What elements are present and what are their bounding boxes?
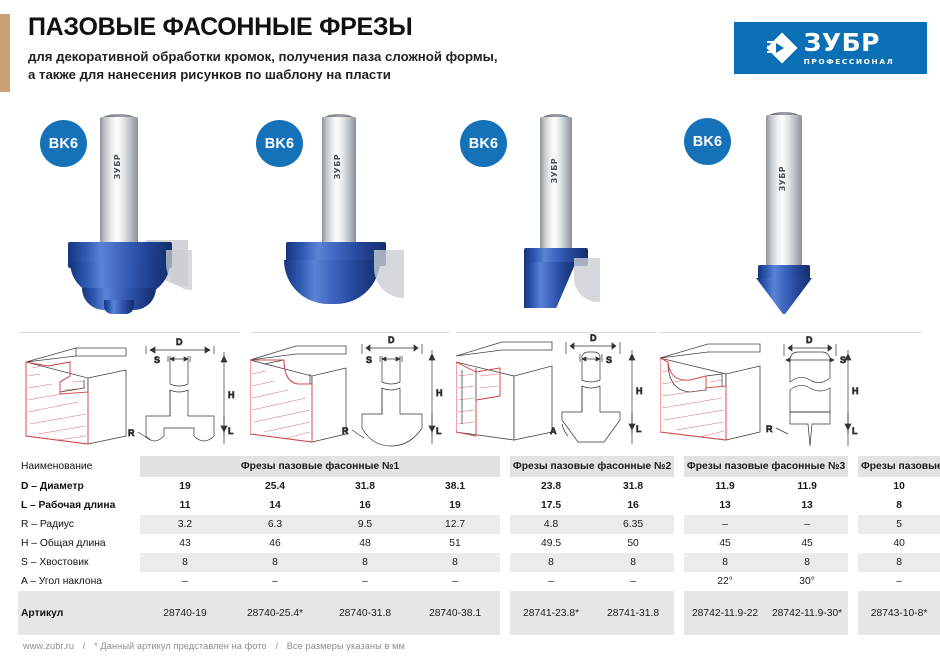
page-header: ПАЗОВЫЕ ФАСОННЫЕ ФРЕЗЫ для декоративной … (28, 14, 588, 84)
cell-a-2-1: – (510, 572, 592, 591)
cell-r-4-1: 5 (858, 515, 940, 534)
shank-brand-4: ЗУБР (778, 166, 787, 191)
group-header-4: Фрезы пазовые фасонные №4 (858, 456, 940, 477)
diagram-row: D S H L R (0, 332, 940, 454)
svg-text:L: L (852, 426, 858, 436)
cell-s-2-2: 8 (592, 553, 674, 572)
cell-art-1-1: 28740-19 (140, 591, 230, 635)
table-row-working-length: L – Рабочая длина 11 14 16 19 17.5 16 13… (18, 496, 940, 515)
cell-s-3-1: 8 (684, 553, 766, 572)
technical-diagram-2: D S H L R (250, 332, 450, 454)
table-row-radius: R – Радиус 3.2 6.3 9.5 12.7 4.8 6.35 – –… (18, 515, 940, 534)
svg-text:R: R (766, 424, 773, 434)
cell-l-3-1: 13 (684, 496, 766, 515)
svg-text:H: H (436, 388, 443, 398)
cell-r-1-3: 9.5 (320, 515, 410, 534)
footer-website[interactable]: www.zubr.ru (23, 641, 74, 651)
cell-art-2-1: 28741-23.8* (510, 591, 592, 635)
footer-note-article: * Данный артикул представлен на фото (94, 641, 267, 651)
cell-h-1-1: 43 (140, 534, 230, 553)
shank-brand-2: ЗУБР (333, 154, 342, 179)
cell-l-2-1: 17.5 (510, 496, 592, 515)
svg-text:H: H (852, 386, 859, 396)
table-name-header: Наименование (18, 456, 140, 477)
cell-art-1-3: 28740-31.8 (320, 591, 410, 635)
svg-text:R: R (128, 428, 135, 438)
table-row-diameter: D – Диаметр 19 25.4 31.8 38.1 23.8 31.8 … (18, 477, 940, 496)
cell-s-4-1: 8 (858, 553, 940, 572)
cell-r-3-1: – (684, 515, 766, 534)
product-photo-row: BK6 ЗУБР BK6 ЗУБР BK6 ЗУБР BK6 ЗУБР (0, 100, 940, 332)
cell-h-2-1: 49.5 (510, 534, 592, 553)
page-title: ПАЗОВЫЕ ФАСОННЫЕ ФРЕЗЫ (28, 14, 588, 41)
cell-h-3-2: 45 (766, 534, 848, 553)
cell-r-1-2: 6.3 (230, 515, 320, 534)
group-header-2: Фрезы пазовые фасонные №2 (510, 456, 674, 477)
shank-brand-3: ЗУБР (550, 158, 559, 183)
table-row-article: Артикул 28740-19 28740-25.4* 28740-31.8 … (18, 591, 940, 635)
cell-a-1-3: – (320, 572, 410, 591)
cell-d-1-2: 25.4 (230, 477, 320, 496)
cell-l-1-2: 14 (230, 496, 320, 515)
svg-text:H: H (228, 390, 235, 400)
group-header-3: Фрезы пазовые фасонные №3 (684, 456, 848, 477)
cell-l-1-1: 11 (140, 496, 230, 515)
cell-a-1-4: – (410, 572, 500, 591)
subtitle-line-2: а также для нанесения рисунков по шаблон… (28, 66, 588, 84)
row-label-working-length: L – Рабочая длина (18, 496, 140, 515)
badge-bk6-2: BK6 (256, 120, 303, 167)
cell-art-3-1: 28742-11.9-22 (684, 591, 766, 635)
cell-l-1-3: 16 (320, 496, 410, 515)
table-group-header-row: Наименование Фрезы пазовые фасонные №1 Ф… (18, 456, 940, 477)
page-footer: www.zubr.ru / * Данный артикул представл… (20, 641, 408, 651)
cell-s-1-2: 8 (230, 553, 320, 572)
spec-table-wrapper: Наименование Фрезы пазовые фасонные №1 Ф… (18, 456, 922, 635)
brand-logo: ЗУБР ПРОФЕССИОНАЛ (734, 22, 927, 74)
cell-d-1-4: 38.1 (410, 477, 500, 496)
cell-a-3-1: 22° (684, 572, 766, 591)
row-label-total-length: H – Общая длина (18, 534, 140, 553)
svg-text:A: A (550, 426, 557, 436)
cell-l-1-4: 19 (410, 496, 500, 515)
svg-text:D: D (806, 335, 813, 345)
accent-bar (0, 14, 10, 92)
badge-bk6-3: BK6 (460, 120, 507, 167)
cell-d-2-1: 23.8 (510, 477, 592, 496)
spec-table: Наименование Фрезы пазовые фасонные №1 Ф… (18, 456, 940, 635)
cell-l-3-2: 13 (766, 496, 848, 515)
svg-text:L: L (436, 426, 442, 436)
cell-a-2-2: – (592, 572, 674, 591)
cell-r-1-4: 12.7 (410, 515, 500, 534)
zubr-diamond-icon (767, 33, 797, 63)
cell-s-1-3: 8 (320, 553, 410, 572)
cell-d-1-1: 19 (140, 477, 230, 496)
cell-art-3-2: 28742-11.9-30* (766, 591, 848, 635)
cell-d-3-2: 11.9 (766, 477, 848, 496)
cell-a-4-1: – (858, 572, 940, 591)
product-photo-2: BK6 ЗУБР (250, 100, 450, 332)
table-row-total-length: H – Общая длина 43 46 48 51 49.5 50 45 4… (18, 534, 940, 553)
cell-art-1-2: 28740-25.4* (230, 591, 320, 635)
technical-diagram-1: D S H L R (18, 332, 240, 454)
group-header-1: Фрезы пазовые фасонные №1 (140, 456, 500, 477)
cell-s-3-2: 8 (766, 553, 848, 572)
cell-d-3-1: 11.9 (684, 477, 766, 496)
product-photo-3: BK6 ЗУБР (456, 100, 656, 332)
row-label-diameter: D – Диаметр (18, 477, 140, 496)
page-subtitle: для декоративной обработки кромок, получ… (28, 48, 588, 84)
row-label-article: Артикул (18, 591, 140, 635)
cell-d-1-3: 31.8 (320, 477, 410, 496)
cell-h-1-4: 51 (410, 534, 500, 553)
row-label-radius: R – Радиус (18, 515, 140, 534)
svg-text:S: S (154, 355, 160, 365)
cell-h-1-3: 48 (320, 534, 410, 553)
cell-h-2-2: 50 (592, 534, 674, 553)
cell-d-2-2: 31.8 (592, 477, 674, 496)
shank-brand-1: ЗУБР (113, 154, 122, 179)
cell-s-1-1: 8 (140, 553, 230, 572)
svg-text:D: D (388, 335, 395, 345)
product-photo-4: BK6 ЗУБР (660, 100, 930, 332)
svg-text:H: H (636, 386, 643, 396)
cell-h-3-1: 45 (684, 534, 766, 553)
footer-note-units: Все размеры указаны в мм (287, 641, 405, 651)
cell-h-4-1: 40 (858, 534, 940, 553)
badge-bk6-1: BK6 (40, 120, 87, 167)
row-label-angle: A – Угол наклона (18, 572, 140, 591)
cell-r-3-2: – (766, 515, 848, 534)
brand-tagline: ПРОФЕССИОНАЛ (804, 57, 895, 66)
cell-r-2-1: 4.8 (510, 515, 592, 534)
technical-diagram-3: D S H L A (456, 332, 656, 454)
svg-text:L: L (636, 424, 642, 434)
table-row-angle: A – Угол наклона – – – – – – 22° 30° – – (18, 572, 940, 591)
cell-r-1-1: 3.2 (140, 515, 230, 534)
svg-text:D: D (176, 337, 183, 347)
badge-bk6-4: BK6 (684, 118, 731, 165)
svg-text:L: L (228, 426, 234, 436)
svg-text:R: R (342, 426, 349, 436)
row-label-shank: S – Хвостовик (18, 553, 140, 572)
cell-l-2-2: 16 (592, 496, 674, 515)
footer-sep-1: / (83, 641, 86, 651)
footer-sep-2: / (275, 641, 278, 651)
cell-a-1-2: – (230, 572, 320, 591)
cell-s-1-4: 8 (410, 553, 500, 572)
technical-diagram-4: D S H L R (660, 332, 930, 454)
cell-art-4-1: 28743-10-8* (858, 591, 940, 635)
product-photo-1: BK6 ЗУБР (18, 100, 240, 332)
cell-s-2-1: 8 (510, 553, 592, 572)
cell-l-4-1: 8 (858, 496, 940, 515)
svg-text:D: D (590, 333, 597, 343)
svg-text:S: S (366, 355, 372, 365)
brand-name: ЗУБР (804, 30, 880, 55)
cell-h-1-2: 46 (230, 534, 320, 553)
cell-r-2-2: 6.35 (592, 515, 674, 534)
cell-art-1-4: 28740-38.1 (410, 591, 500, 635)
subtitle-line-1: для декоративной обработки кромок, получ… (28, 48, 588, 66)
cell-a-1-1: – (140, 572, 230, 591)
cell-art-2-2: 28741-31.8 (592, 591, 674, 635)
cell-d-4-1: 10 (858, 477, 940, 496)
svg-text:S: S (606, 355, 612, 365)
table-row-shank: S – Хвостовик 8 8 8 8 8 8 8 8 8 12 (18, 553, 940, 572)
cell-a-3-2: 30° (766, 572, 848, 591)
